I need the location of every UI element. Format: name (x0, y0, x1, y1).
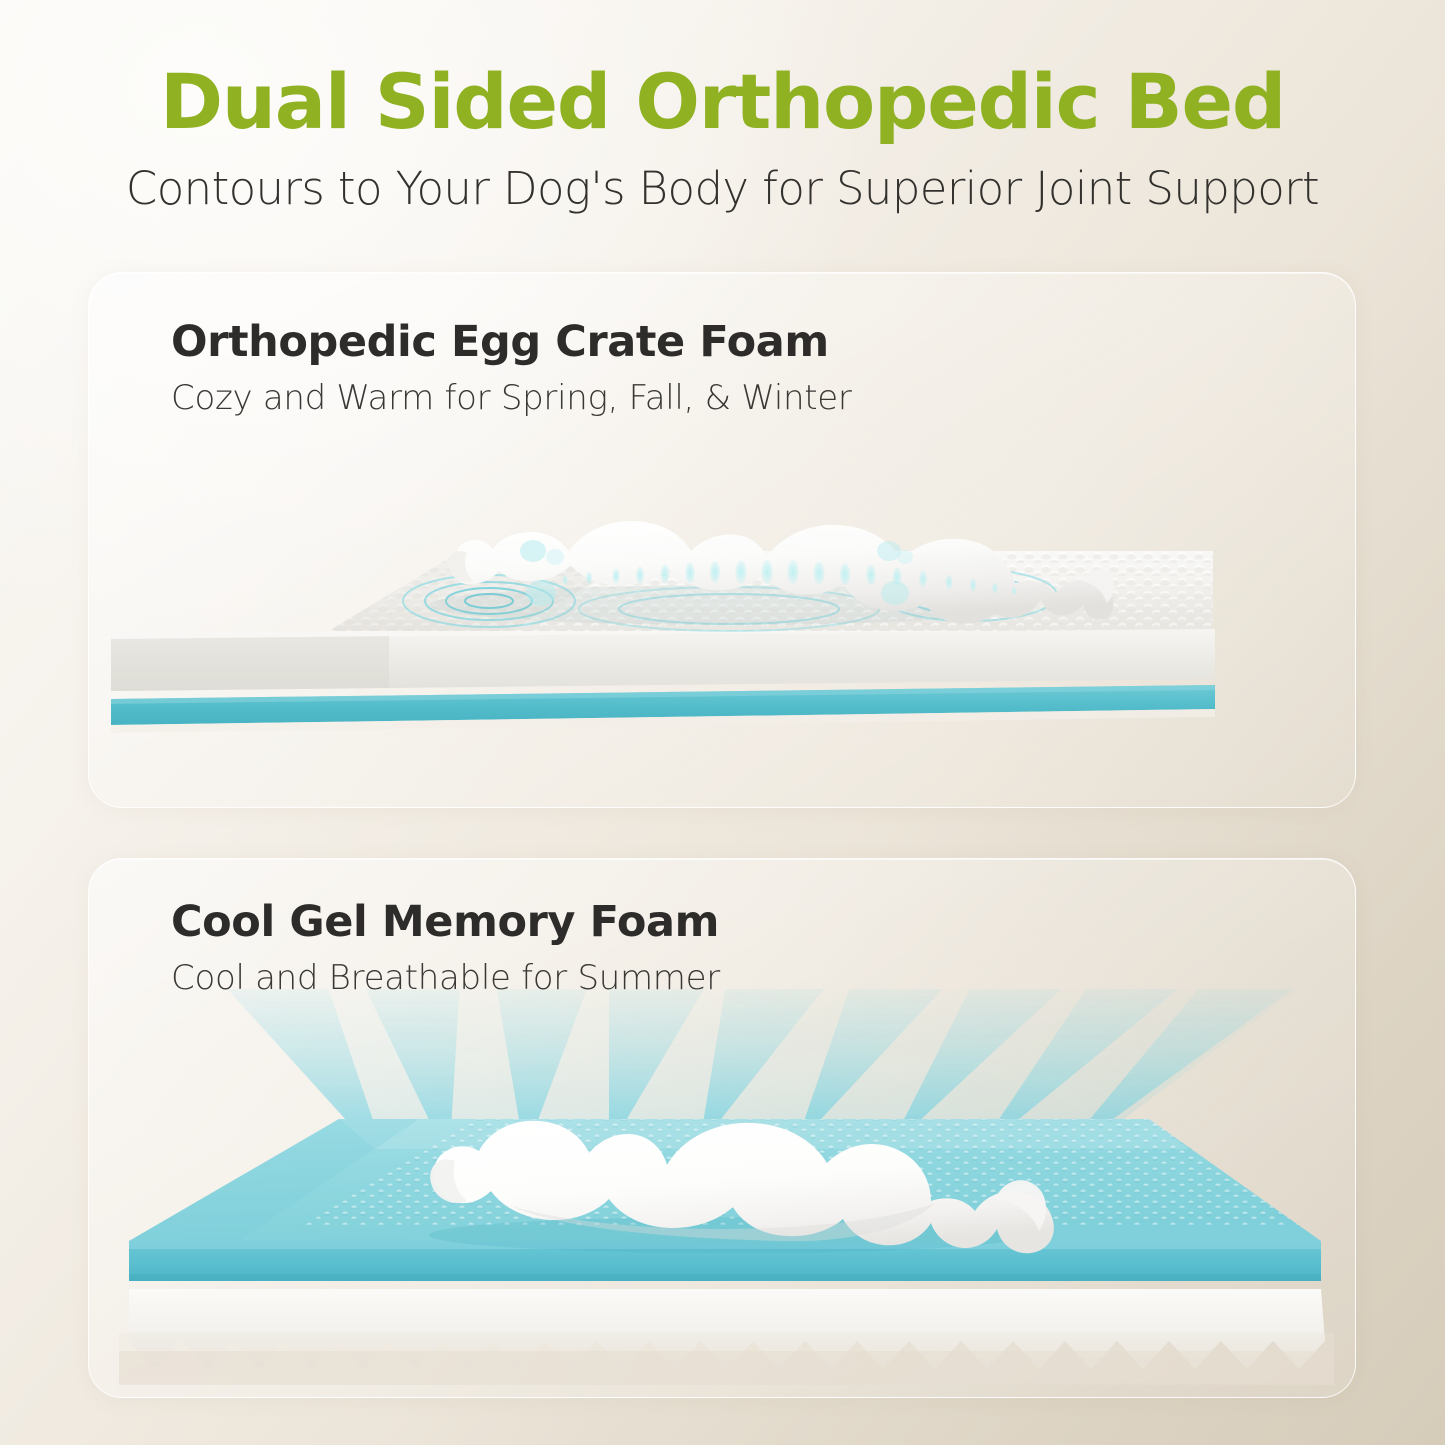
white-foam-base-layer (119, 1289, 1334, 1385)
feature-card-cool-gel-memory-foam: Cool Gel Memory Foam Cool and Breathable… (88, 858, 1356, 1398)
card-title: Orthopedic Egg Crate Foam (171, 319, 852, 366)
feature-card-egg-crate-foam: Orthopedic Egg Crate Foam Cozy and Warm … (88, 272, 1356, 808)
page-subtitle: Contours to Your Dog's Body for Superior… (0, 164, 1445, 214)
card-header-cool-gel: Cool Gel Memory Foam Cool and Breathable… (171, 899, 720, 998)
card-header-egg-crate: Orthopedic Egg Crate Foam Cozy and Warm … (171, 319, 852, 418)
illustration-gel-foam-slab-with-dog-shape (89, 989, 1356, 1398)
illustration-egg-crate-foam-with-dog-shape (89, 433, 1356, 808)
card-subtitle: Cozy and Warm for Spring, Fall, & Winter (171, 380, 852, 417)
foam-body-layer (111, 629, 1215, 691)
infographic-page: Dual Sided Orthopedic Bed Contours to Yo… (0, 0, 1445, 1445)
card-title: Cool Gel Memory Foam (171, 899, 720, 946)
dog-shape-silhouette (429, 521, 1114, 625)
header: Dual Sided Orthopedic Bed Contours to Yo… (0, 0, 1445, 213)
page-title: Dual Sided Orthopedic Bed (0, 62, 1445, 142)
